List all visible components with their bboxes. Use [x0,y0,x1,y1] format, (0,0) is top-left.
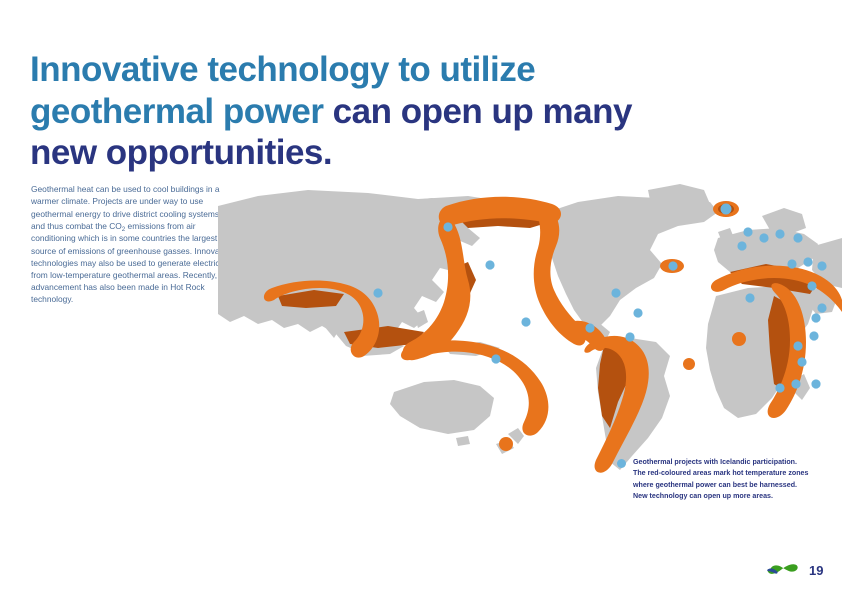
body-paragraph: Geothermal heat can be used to cool buil… [31,183,234,304]
world-map-svg [218,176,842,496]
project-dot-philippines[interactable] [625,332,634,341]
body-text-after-subscript: emissions from air conditioning which is… [31,221,233,304]
legend-project-dot-icon [617,459,626,468]
page-footer: 19 [766,561,823,579]
map-legend: Geothermal projects with Icelandic parti… [617,457,832,503]
project-dot-poland[interactable] [793,233,802,242]
project-dot-caucasus[interactable] [817,261,826,270]
project-dot-west-africa[interactable] [745,293,754,302]
project-dot-iceland[interactable] [721,204,732,215]
legend-text-block: Geothermal projects with Icelandic parti… [633,457,808,503]
project-dot-zambia[interactable] [775,383,784,392]
project-dot-indonesia[interactable] [491,354,500,363]
project-dot-great-lakes[interactable] [485,260,494,269]
project-dot-ethiopia[interactable] [793,341,802,350]
project-dot-black-sea[interactable] [803,257,812,266]
region-australia [390,380,494,434]
legend-line-4: New technology can open up more areas. [633,491,808,502]
project-dot-c-america[interactable] [585,323,594,332]
project-dot-usa-east[interactable] [611,288,620,297]
project-dot-netherlands[interactable] [759,233,768,242]
project-dot-somalia[interactable] [809,331,818,340]
project-dot-turkey[interactable] [807,281,816,290]
project-dot-france[interactable] [737,241,746,250]
project-dot-south-china[interactable] [521,317,530,326]
project-dot-red-sea[interactable] [811,313,820,322]
region-tasmania [456,436,470,446]
project-dot-balkans[interactable] [787,259,796,268]
infinity-leaf-logo [766,561,800,579]
project-dot-caribbean[interactable] [633,308,642,317]
hot-zone-cameroon [732,332,746,346]
project-dot-tanzania[interactable] [791,379,800,388]
project-dot-alaska[interactable] [443,222,452,231]
project-dot-denmark[interactable] [775,229,784,238]
document-page: Innovative technology to utilize geother… [0,0,842,595]
world-map-figure [218,176,842,496]
legend-line-2: The red-coloured areas mark hot temperat… [633,468,808,479]
page-number: 19 [809,564,823,577]
legend-line-3: where geothermal power can best be harne… [633,480,808,491]
legend-line-1: Geothermal projects with Icelandic parti… [633,457,808,468]
hot-zone-new-zealand [499,437,513,451]
project-dot-kenya[interactable] [797,357,806,366]
region-north-america [546,196,718,328]
hot-zone-ascension [683,358,695,370]
project-dot-mozambique[interactable] [811,379,820,388]
co2-subscript: 2 [122,226,125,233]
project-dot-middle-east[interactable] [817,303,826,312]
project-dot-uk[interactable] [743,227,752,236]
project-dot-central-asia[interactable] [373,288,382,297]
project-dot-azores[interactable] [668,261,677,270]
page-title: Innovative technology to utilize geother… [30,49,670,172]
